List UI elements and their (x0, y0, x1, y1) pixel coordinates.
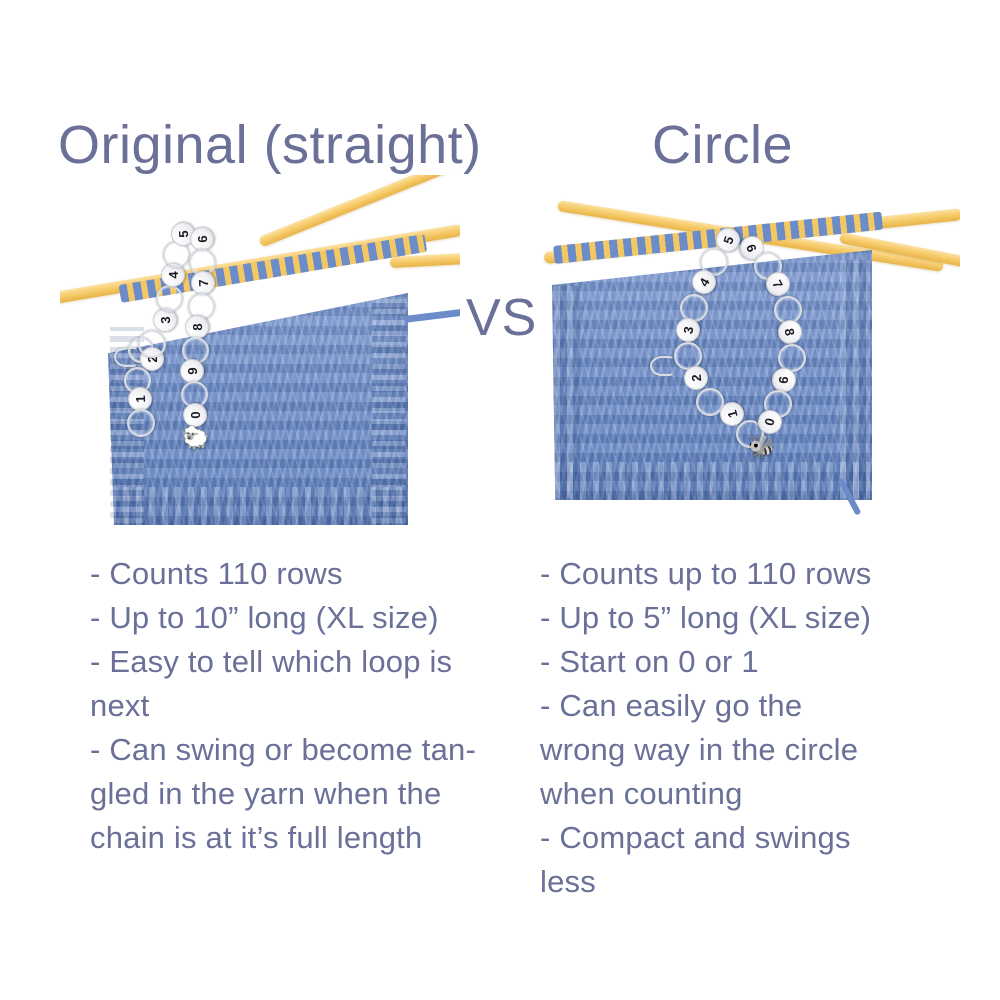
swatch-bottom-border-right (554, 462, 870, 500)
feature-line: - Counts 110 rows (90, 552, 510, 596)
feature-line: - Can swing or become tan- (90, 728, 510, 772)
feature-line: next (90, 684, 510, 728)
feature-line: chain is at it’s full length (90, 816, 510, 860)
photo-circle: 5 6 4 3 2 1 7 8 9 0 🐝 (540, 170, 960, 530)
feature-line: - Counts up to 110 rows (540, 552, 940, 596)
features-list-original: - Counts 110 rows - Up to 10” long (XL s… (90, 552, 510, 860)
comparison-infographic: Original (straight) Circle 2 1 (0, 0, 1000, 1000)
cast-on-loop-row-left (119, 234, 428, 303)
heading-circle: Circle (652, 118, 793, 172)
feature-line: less (540, 860, 940, 904)
feature-line: when counting (540, 772, 940, 816)
feature-line: - Start on 0 or 1 (540, 640, 940, 684)
photo-original-straight: 2 1 3 4 5 6 7 8 9 0 🐑 (60, 175, 460, 530)
chain-ring (188, 293, 215, 320)
feature-line: - Up to 10” long (XL size) (90, 596, 510, 640)
heading-original-straight: Original (straight) (58, 118, 482, 172)
features-list-circle: - Counts up to 110 rows - Up to 5” long … (540, 552, 940, 904)
feature-line: - Compact and swings (540, 816, 940, 860)
feature-line: gled in the yarn when the (90, 772, 510, 816)
feature-line: - Up to 5” long (XL size) (540, 596, 940, 640)
swatch-bottom-border-left (110, 487, 407, 525)
chain-disc-number: 6 (190, 227, 215, 252)
feature-line: - Easy to tell which loop is (90, 640, 510, 684)
working-yarn-left (404, 308, 460, 323)
chain-disc-number: 3 (153, 308, 178, 333)
feature-line: wrong way in the circle (540, 728, 940, 772)
chain-disc-number: 5 (171, 222, 196, 247)
feature-line: - Can easily go the (540, 684, 940, 728)
versus-label: VS (466, 292, 537, 344)
chain-ring (163, 241, 190, 268)
